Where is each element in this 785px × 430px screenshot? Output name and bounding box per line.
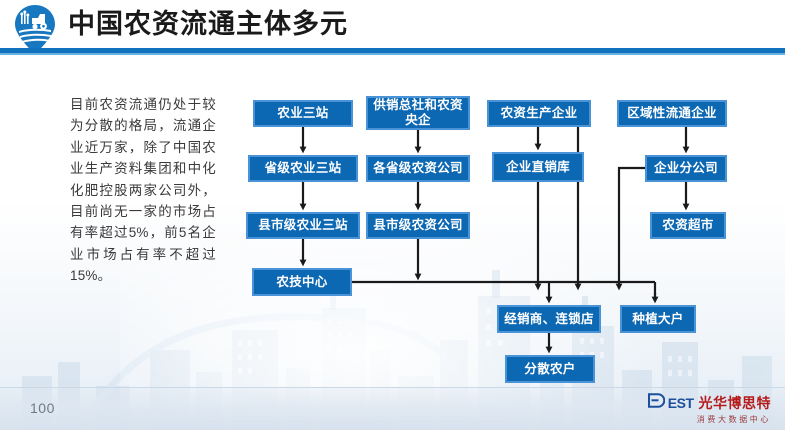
flowchart-node[interactable]: 区域性流通企业	[617, 100, 727, 127]
flowchart-node[interactable]: 经销商、连锁店	[497, 305, 601, 333]
flowchart-node[interactable]: 县市级农资公司	[366, 212, 470, 239]
best-logo-icon	[647, 393, 665, 412]
page-title: 中国农资流通主体多元	[68, 4, 348, 44]
flowchart-node[interactable]: 企业直销库	[492, 152, 584, 182]
page-number: 100	[30, 400, 55, 416]
description-paragraph: 目前农资流通仍处于较为分散的格局，流通企业近万家，除了中国农业生产资料集团和中化…	[70, 94, 216, 287]
flowchart-node[interactable]: 企业分公司	[645, 155, 727, 182]
flowchart-node[interactable]: 农资生产企业	[487, 100, 591, 127]
flowchart-node[interactable]: 农业三站	[253, 100, 353, 127]
brand-latin-text: EST	[668, 396, 694, 410]
slide-header: 中国农资流通主体多元	[0, 0, 785, 55]
flowchart-node[interactable]: 分散农户	[505, 355, 595, 383]
slide-footer: 100 EST 光华博思特 消费大数据中心	[0, 387, 785, 430]
flowchart-node[interactable]: 各省级农资公司	[366, 155, 470, 182]
brand-name-text: 光华博思特	[699, 396, 772, 410]
brand-logo: EST 光华博思特 消费大数据中心	[647, 393, 771, 424]
flowchart-node[interactable]: 县市级农业三站	[246, 212, 360, 239]
flowchart-node[interactable]: 供销总社和农资央企	[366, 96, 470, 130]
slide-canvas: 中国农资流通主体多元 目前农资流通仍处于较为分散的格局，流通企业近万家，除了中国…	[0, 0, 785, 430]
flowchart-node[interactable]: 省级农业三站	[248, 155, 358, 182]
title-underline-bar-light	[0, 53, 785, 55]
flowchart-node[interactable]: 农技中心	[252, 268, 352, 296]
brand-subtitle-text: 消费大数据中心	[647, 416, 771, 424]
flowchart-node[interactable]: 农资超市	[650, 212, 726, 239]
flowchart-node[interactable]: 种植大户	[620, 305, 696, 333]
